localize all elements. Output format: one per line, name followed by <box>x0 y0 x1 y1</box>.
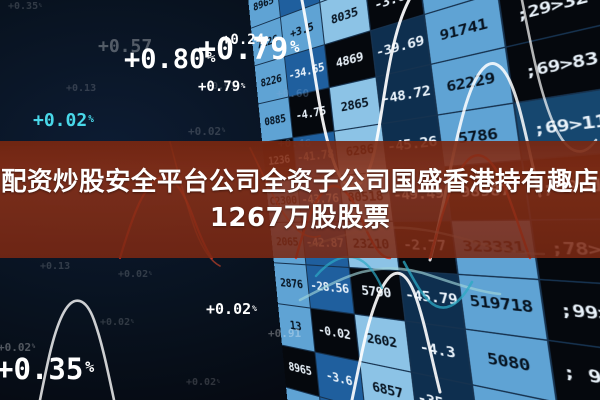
callout-plus-0-02-faint-b: +0.02% <box>188 126 225 137</box>
callout-teal-plus-0-02: +0.02% <box>33 112 94 130</box>
callout-plus-0-13-faint-b: +0.13 <box>40 262 71 272</box>
callout-plus-0-02-faint-e: +0.02% <box>118 270 152 280</box>
callout-plus-0-57: +0.57 <box>98 38 153 56</box>
headline-line-2: 1267万股股票 <box>210 203 390 233</box>
curve-white-2 <box>352 273 440 400</box>
callout-plus-0-02-faint-a: +0.02% <box>0 342 35 353</box>
callout-plus-0-02-mid: +0.02% <box>206 302 257 317</box>
curve-white-5 <box>520 0 596 151</box>
headline-text-block: 配资炒股安全平台公司全资子公司国盛香港持有趣店 1267万股股票 <box>0 141 600 258</box>
callout-plus-0-35-faint: +0.35% <box>8 2 42 12</box>
callout-plus-0-13-faint-a: +0.13 <box>66 84 97 94</box>
callout-plus-0-60-faint: +0.60 <box>276 88 310 99</box>
callout-plus-0-02-faint-d: +0.02% <box>100 318 134 328</box>
callout-plus-0-02-faint-c: +0.02% <box>186 378 220 388</box>
callout-plus-0-91-faint-a: +0.91 <box>206 82 237 92</box>
headline-line-1: 配资炒股安全平台公司全资子公司国盛香港持有趣店 <box>0 167 600 197</box>
callout-plus-0-91-faint-b: +0.91 <box>268 328 302 339</box>
banner-image: 13-0.022602-4.35080; 96>31+247320400048-… <box>0 0 600 400</box>
curve-cyan-4 <box>316 257 382 288</box>
callout-plus-0-35-bottom: +0.35% <box>0 355 94 384</box>
callout-plus-0-24: +0.24% <box>222 33 269 47</box>
